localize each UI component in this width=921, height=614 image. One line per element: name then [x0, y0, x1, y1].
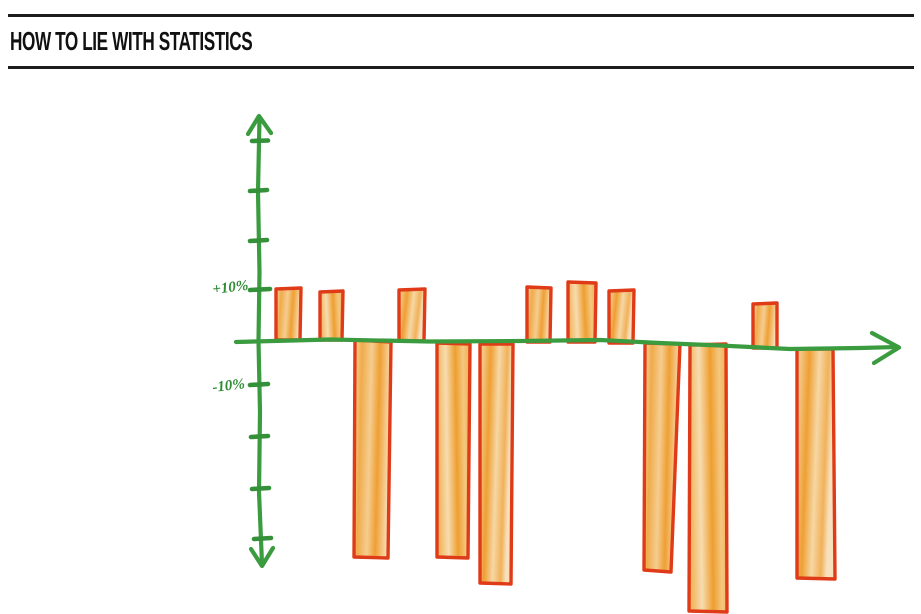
header-rule-top [8, 14, 914, 17]
y-axis-label-negative: -10% [212, 376, 246, 396]
bar-11-negative [689, 344, 727, 612]
bar-13-negative [797, 349, 835, 579]
x-axis-line [236, 340, 896, 350]
y-axis-label-positive: +10% [212, 278, 250, 298]
bar-8-positive [568, 282, 596, 342]
bar-2-positive [320, 291, 343, 340]
negative-bars [354, 340, 835, 612]
bar-9-positive [609, 290, 634, 343]
bar-5-negative [437, 343, 470, 558]
bar-4-positive [399, 289, 425, 341]
page-header: HOW TO LIE WITH STATISTICS [0, 0, 921, 72]
bar-12-positive [753, 303, 777, 348]
page-root: HOW TO LIE WITH STATISTICS [0, 0, 921, 614]
header-rule-bottom [8, 66, 914, 69]
bar-10-negative [644, 343, 680, 572]
chart-figure: +10% -10% [0, 72, 921, 614]
hand-drawn-bar-chart: +10% -10% [0, 72, 921, 614]
bar-7-positive [527, 287, 551, 342]
page-title: HOW TO LIE WITH STATISTICS [10, 22, 252, 60]
bar-6-negative [480, 344, 513, 584]
bar-1-positive [276, 288, 301, 340]
bar-3-negative [354, 340, 391, 558]
